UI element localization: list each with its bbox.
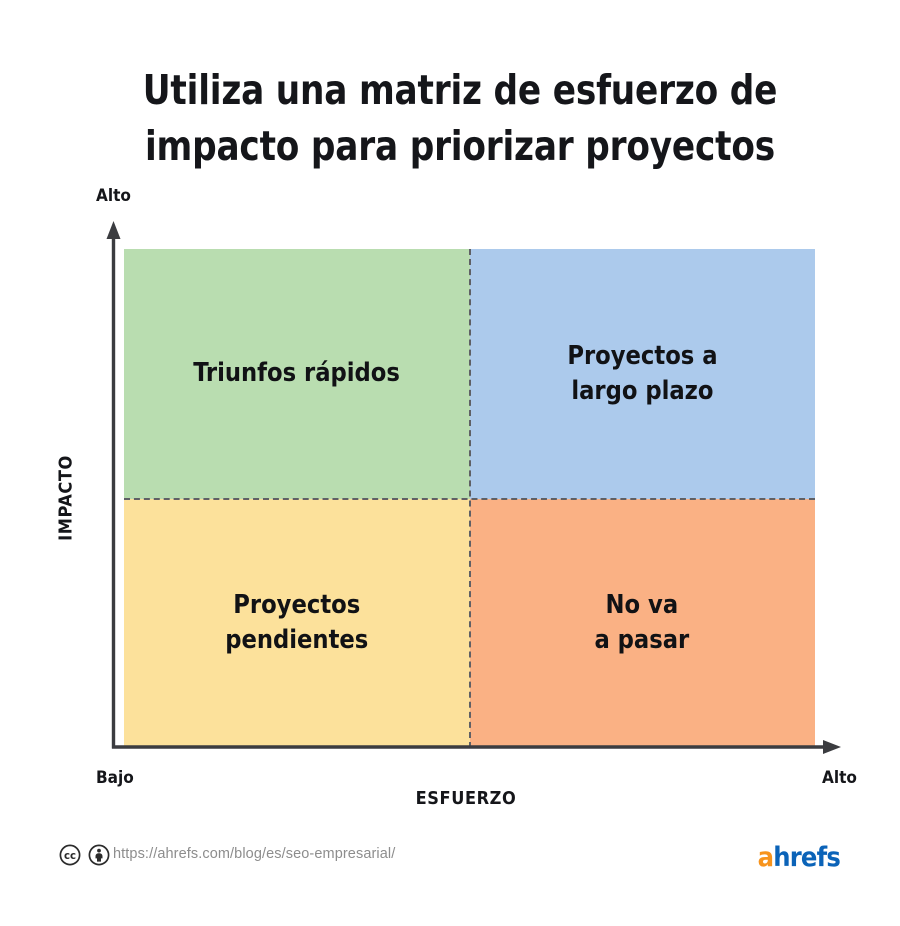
footer: cc https://ahrefs.com/blog/es/seo-empres…: [0, 840, 900, 880]
impact-effort-matrix: Triunfos rápidos Proyectos a largo plazo…: [0, 0, 900, 926]
y-axis-title: IMPACTO: [56, 455, 77, 541]
x-axis-arrow-icon: [823, 740, 841, 754]
quadrant-top-right[interactable]: Proyectos a largo plazo: [470, 249, 816, 499]
quadrant-bottom-right-label: No va a pasar: [595, 588, 690, 658]
creative-commons-license: cc: [59, 844, 110, 866]
cc-icon: cc: [59, 844, 81, 866]
x-axis-high-label: Alto: [822, 768, 857, 788]
y-axis-arrow-icon: [107, 221, 121, 239]
quadrant-bottom-left-label: Proyectos pendientes: [225, 588, 368, 658]
quadrant-bottom-left[interactable]: Proyectos pendientes: [124, 499, 470, 749]
quadrant-top-right-label: Proyectos a largo plazo: [567, 339, 717, 409]
matrix-plot-area: Triunfos rápidos Proyectos a largo plazo…: [124, 249, 815, 748]
quadrant-top-left[interactable]: Triunfos rápidos: [124, 249, 470, 499]
svg-text:cc: cc: [64, 851, 76, 862]
x-axis-low-label: Bajo: [96, 768, 134, 788]
y-axis-high-label: Alto: [96, 186, 131, 206]
quadrant-top-left-label: Triunfos rápidos: [193, 356, 400, 391]
quadrant-divider-horizontal: [124, 498, 815, 500]
x-axis-title: ESFUERZO: [416, 788, 517, 809]
ahrefs-logo[interactable]: ahrefs: [758, 842, 840, 873]
ahrefs-logo-accent: a: [758, 842, 774, 873]
quadrant-bottom-right[interactable]: No va a pasar: [470, 499, 816, 749]
source-url[interactable]: https://ahrefs.com/blog/es/seo-empresari…: [113, 846, 395, 862]
ahrefs-logo-text: hrefs: [773, 842, 840, 873]
cc-by-person-icon: [88, 844, 110, 866]
